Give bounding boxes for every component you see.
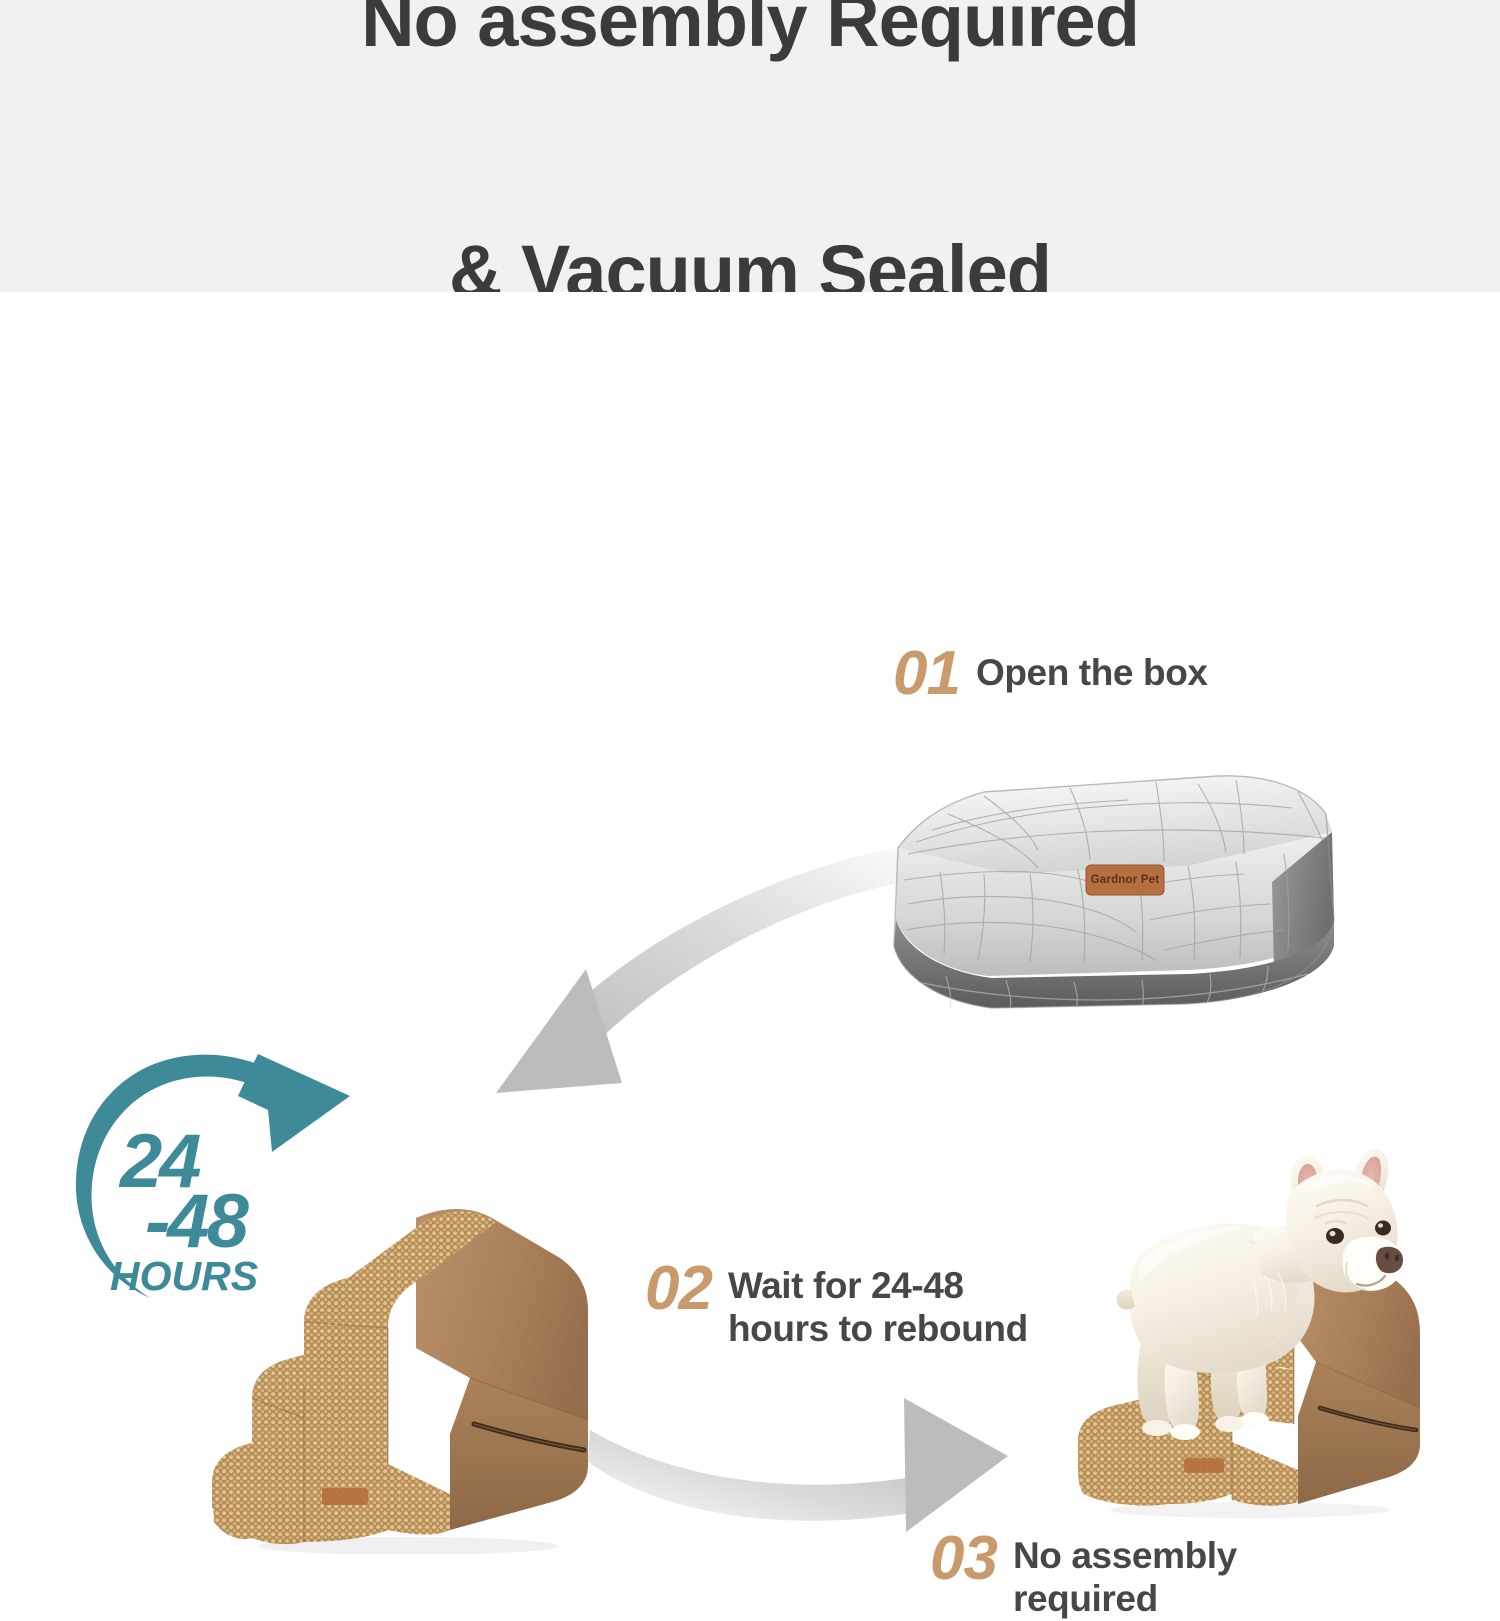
step-text-01: Open the box <box>976 645 1208 695</box>
step-number-02: 02 <box>645 1260 712 1319</box>
vacuum-sealed-package: Gardnor Pet <box>888 770 1340 1018</box>
pet-stairs-expanded <box>208 1182 638 1554</box>
headline-line-1: No assembly Required <box>361 0 1139 62</box>
step-number-03: 03 <box>930 1530 997 1589</box>
step-label-02: 02 Wait for 24-48 hours to rebound <box>645 1260 1028 1351</box>
flow-arrow-box-to-stairs <box>410 837 930 1107</box>
step-label-03: 03 No assembly required <box>930 1530 1237 1621</box>
step-label-01: 01 Open the box <box>893 645 1208 704</box>
infographic-stage: 01 Open the box <box>0 292 1500 1323</box>
step-text-03: No assembly required <box>1013 1530 1237 1621</box>
step-number-01: 01 <box>893 645 960 704</box>
step-text-02: Wait for 24-48 hours to rebound <box>728 1260 1028 1351</box>
french-bulldog <box>1095 1144 1425 1474</box>
header-band: No assembly Required & Vacuum Sealed <box>0 0 1500 292</box>
